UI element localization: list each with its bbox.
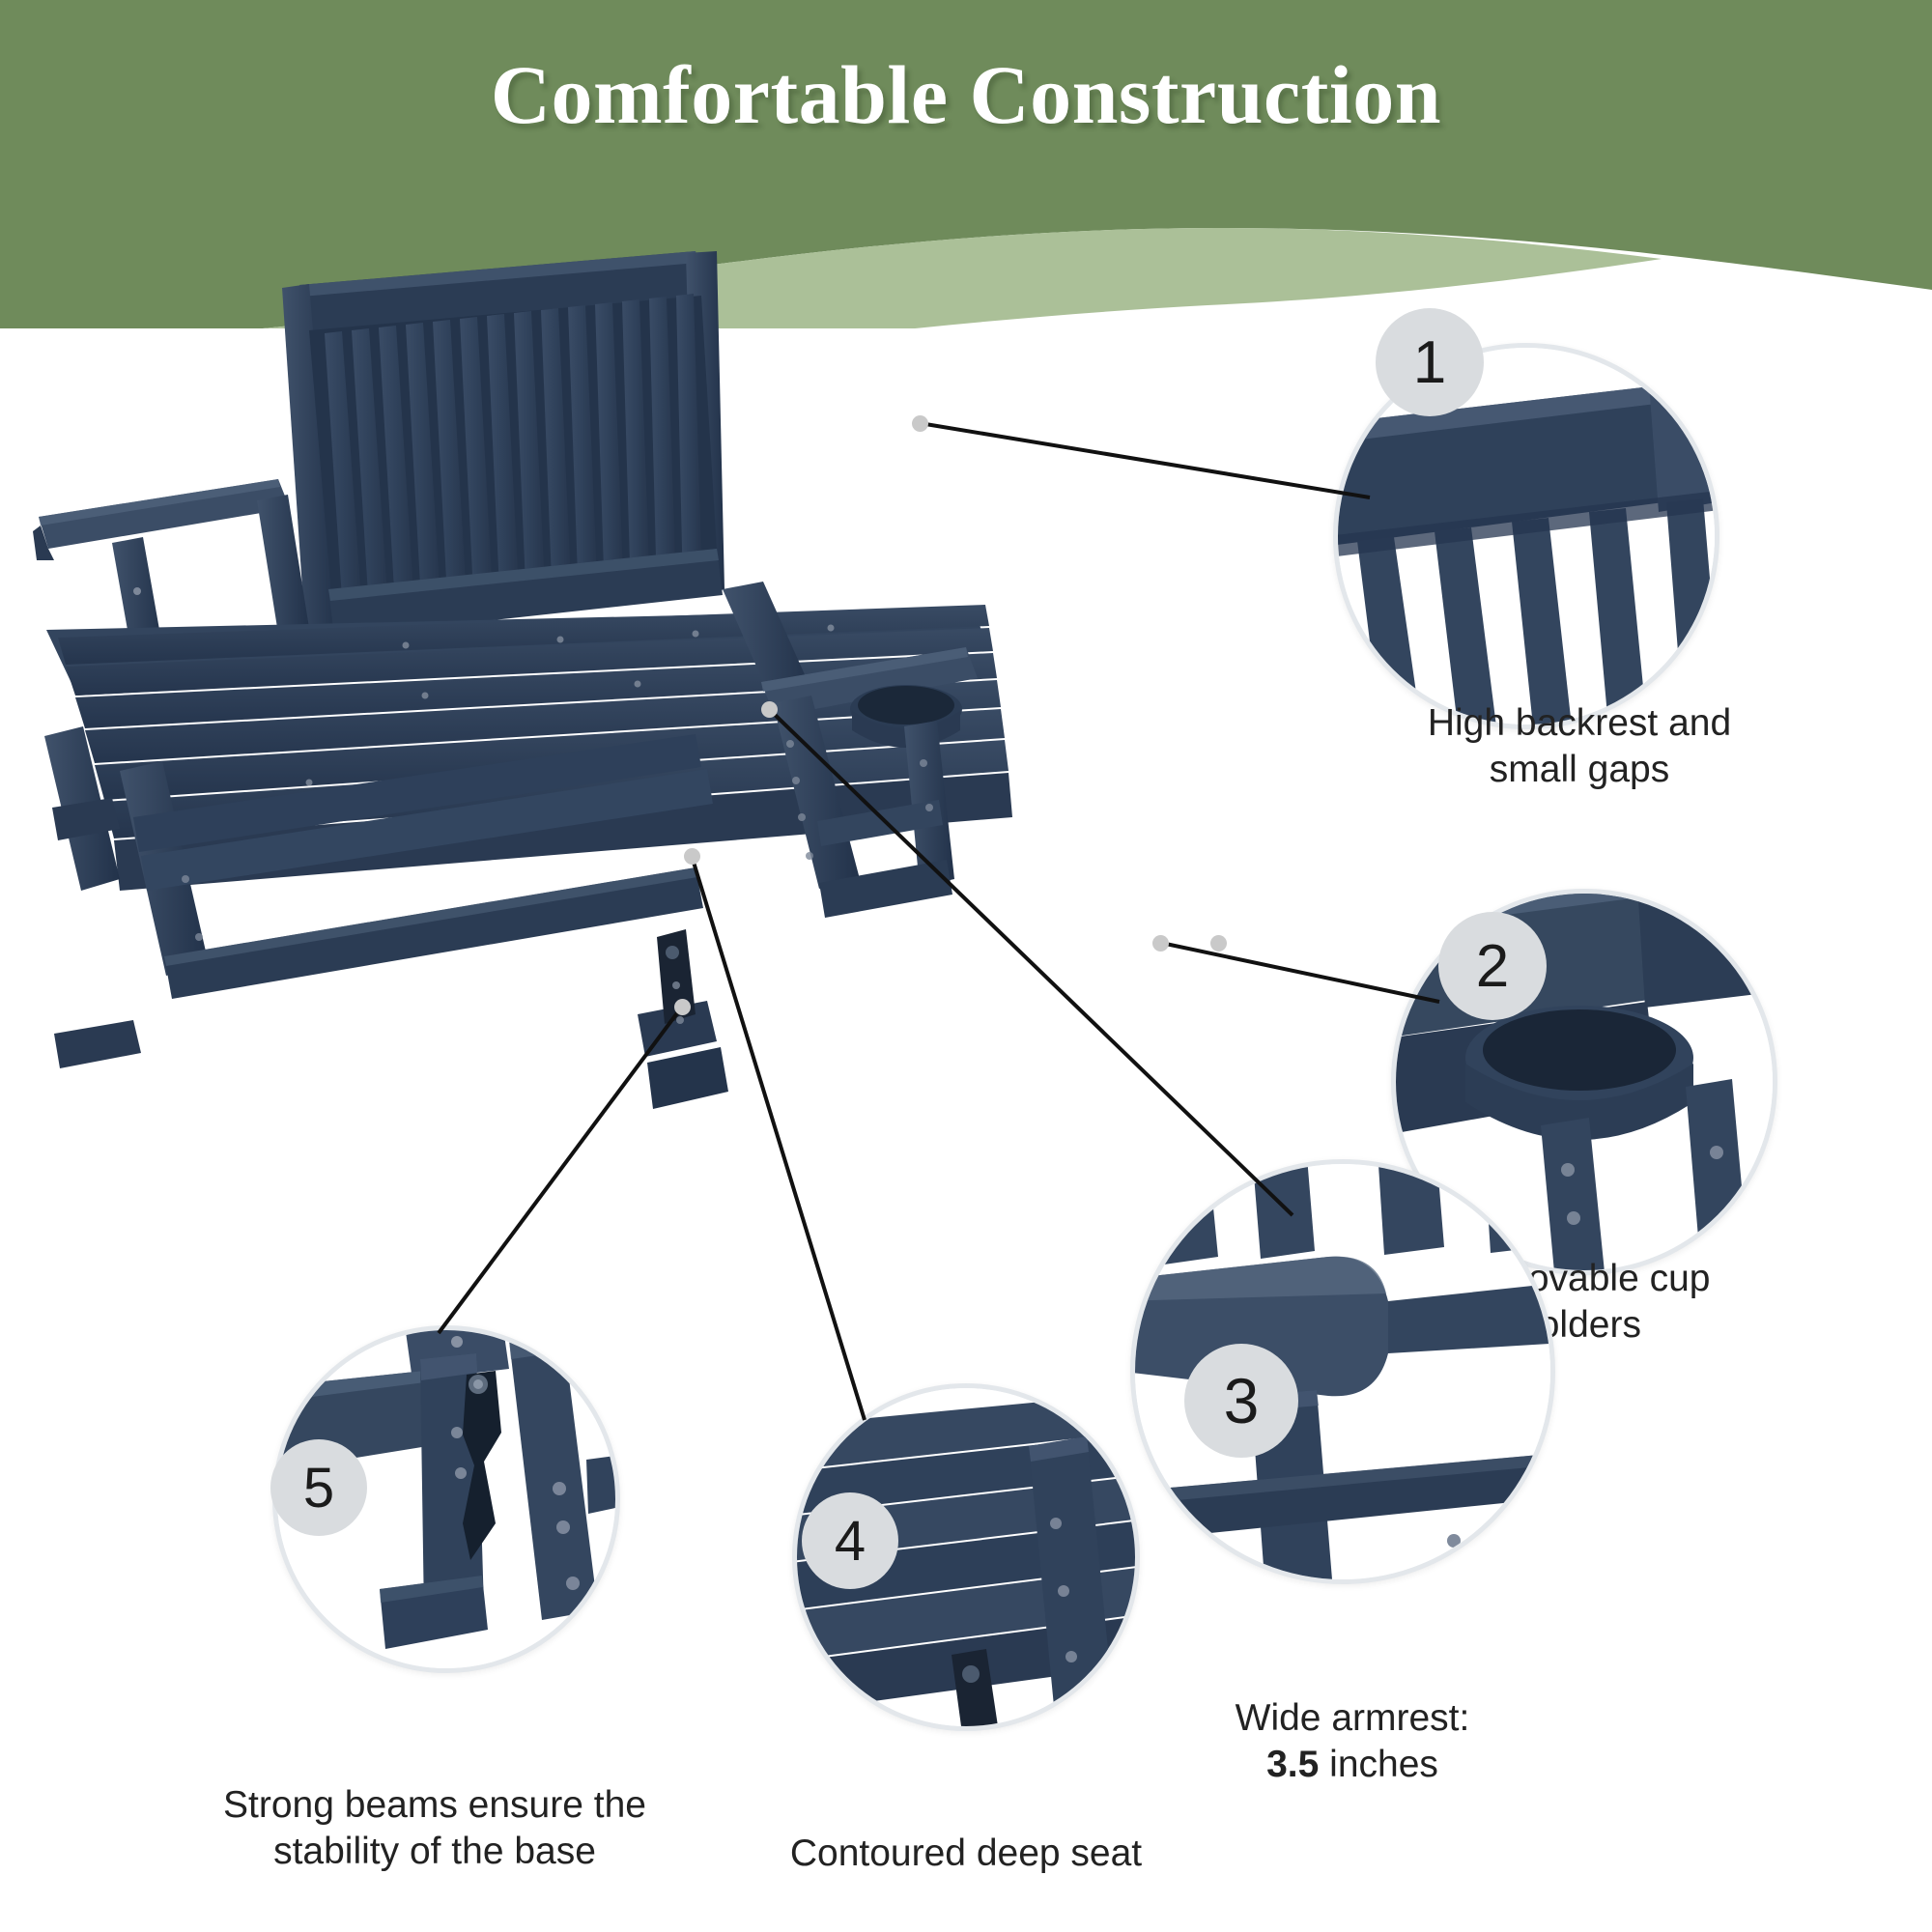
bench-seat xyxy=(46,605,1012,891)
armrest-unit: inches xyxy=(1319,1744,1438,1785)
leader-line-2 xyxy=(1161,943,1439,1002)
page-title: Comfortable Construction xyxy=(0,46,1932,143)
infographic-canvas: Comfortable Construction xyxy=(0,0,1932,1932)
armrest-value: 3.5 xyxy=(1266,1744,1319,1785)
anchor-dot-2b xyxy=(1210,935,1227,952)
anchor-dot-1 xyxy=(912,415,928,432)
product-image-glider-bench xyxy=(19,241,1034,1159)
anchor-dot-5 xyxy=(674,999,691,1015)
caption-line: High backrest and xyxy=(1352,700,1806,747)
callout-badge-1: 1 xyxy=(1376,308,1484,416)
callout-caption-5: Strong beams ensure the stability of the… xyxy=(184,1782,686,1874)
anchor-dot-4 xyxy=(684,848,700,865)
anchor-dot-2a xyxy=(1152,935,1169,952)
bench-backrest xyxy=(282,251,724,638)
callout-badge-4: 4 xyxy=(802,1492,898,1589)
caption-line: Contoured deep seat xyxy=(763,1831,1169,1877)
bench-base-frame xyxy=(44,726,728,1109)
anchor-dot-3 xyxy=(761,701,778,718)
caption-line: Wide armrest: xyxy=(1135,1695,1570,1742)
callout-badge-2: 2 xyxy=(1438,912,1547,1020)
caption-line-armrest-value: 3.5 inches xyxy=(1135,1742,1570,1788)
callout-caption-3: Wide armrest: 3.5 inches xyxy=(1135,1695,1570,1787)
callout-badge-3: 3 xyxy=(1184,1344,1298,1458)
callout-caption-4: Contoured deep seat xyxy=(763,1831,1169,1877)
caption-line: small gaps xyxy=(1352,747,1806,793)
callout-badge-5: 5 xyxy=(270,1439,367,1536)
callout-caption-1: High backrest and small gaps xyxy=(1352,700,1806,792)
caption-line: stability of the base xyxy=(184,1829,686,1875)
caption-line: Strong beams ensure the xyxy=(184,1782,686,1829)
